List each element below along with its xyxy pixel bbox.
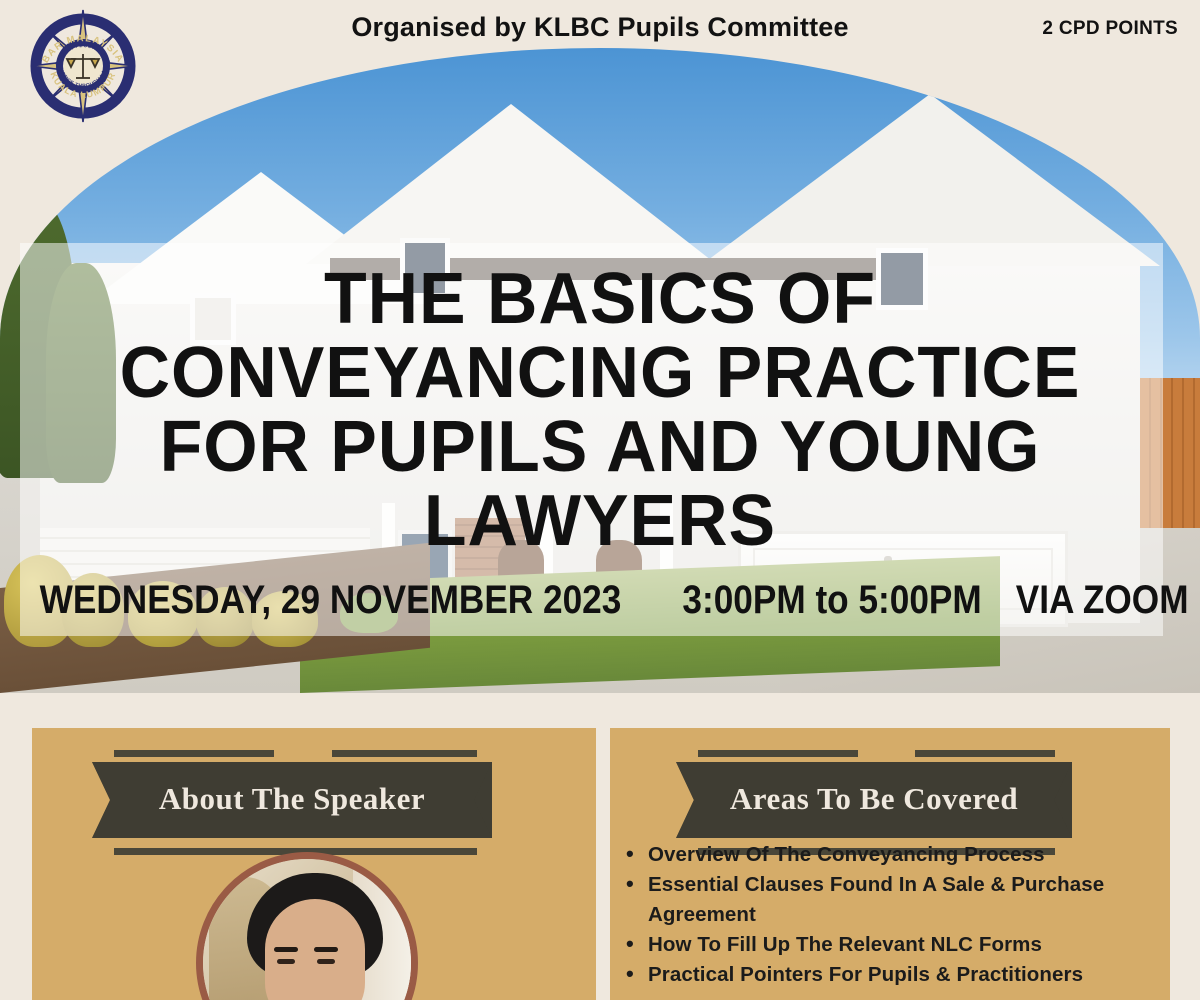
cpd-points-badge: 2 CPD POINTS (1042, 18, 1178, 40)
speaker-avatar (196, 852, 418, 1000)
ribbon-rule-top-left (114, 750, 274, 757)
house-gable-center (306, 104, 716, 264)
areas-list: Overview Of The Conveyancing Process Ess… (622, 840, 1170, 990)
ribbon-rule-top-right (332, 750, 477, 757)
bar-malaysia-emblem-icon: BAR MALAYSIA KUALA LUMPUR PERSATUAN PEGU… (26, 4, 140, 132)
event-platform: VIA ZOOM (1015, 578, 1188, 623)
speaker-heading: About The Speaker (159, 781, 425, 820)
house-gable-right (700, 94, 1160, 266)
ribbon-rule-top-right (915, 750, 1055, 757)
areas-ribbon: Areas To Be Covered (676, 762, 1072, 838)
ribbon-rule-top-left (698, 750, 858, 757)
event-title-line-1: THE BASICS OF (18, 262, 1182, 336)
event-date: WEDNESDAY, 29 NOVEMBER 2023 (40, 578, 622, 623)
speaker-ribbon: About The Speaker (92, 762, 492, 838)
klbc-logo: BAR MALAYSIA KUALA LUMPUR PERSATUAN PEGU… (26, 4, 140, 132)
event-title-line-3: FOR PUPILS AND YOUNG LAWYERS (18, 410, 1182, 558)
list-item: Essential Clauses Found In A Sale & Purc… (622, 870, 1170, 930)
event-time: 3:00PM to 5:00PM (683, 578, 982, 623)
event-title-line-2: CONVEYANCING PRACTICE (18, 336, 1182, 410)
areas-heading: Areas To Be Covered (730, 781, 1018, 820)
list-item: Overview Of The Conveyancing Process (622, 840, 1170, 870)
list-item: Practical Pointers For Pupils & Practiti… (622, 960, 1170, 990)
organiser-text: Organised by KLBC Pupils Committee (0, 12, 1200, 43)
event-details-bar: WEDNESDAY, 29 NOVEMBER 2023 3:00PM to 5:… (0, 578, 1200, 623)
event-title: THE BASICS OF CONVEYANCING PRACTICE FOR … (18, 262, 1182, 558)
list-item: How To Fill Up The Relevant NLC Forms (622, 930, 1170, 960)
header: Organised by KLBC Pupils Committee 2 CPD… (0, 0, 1200, 62)
